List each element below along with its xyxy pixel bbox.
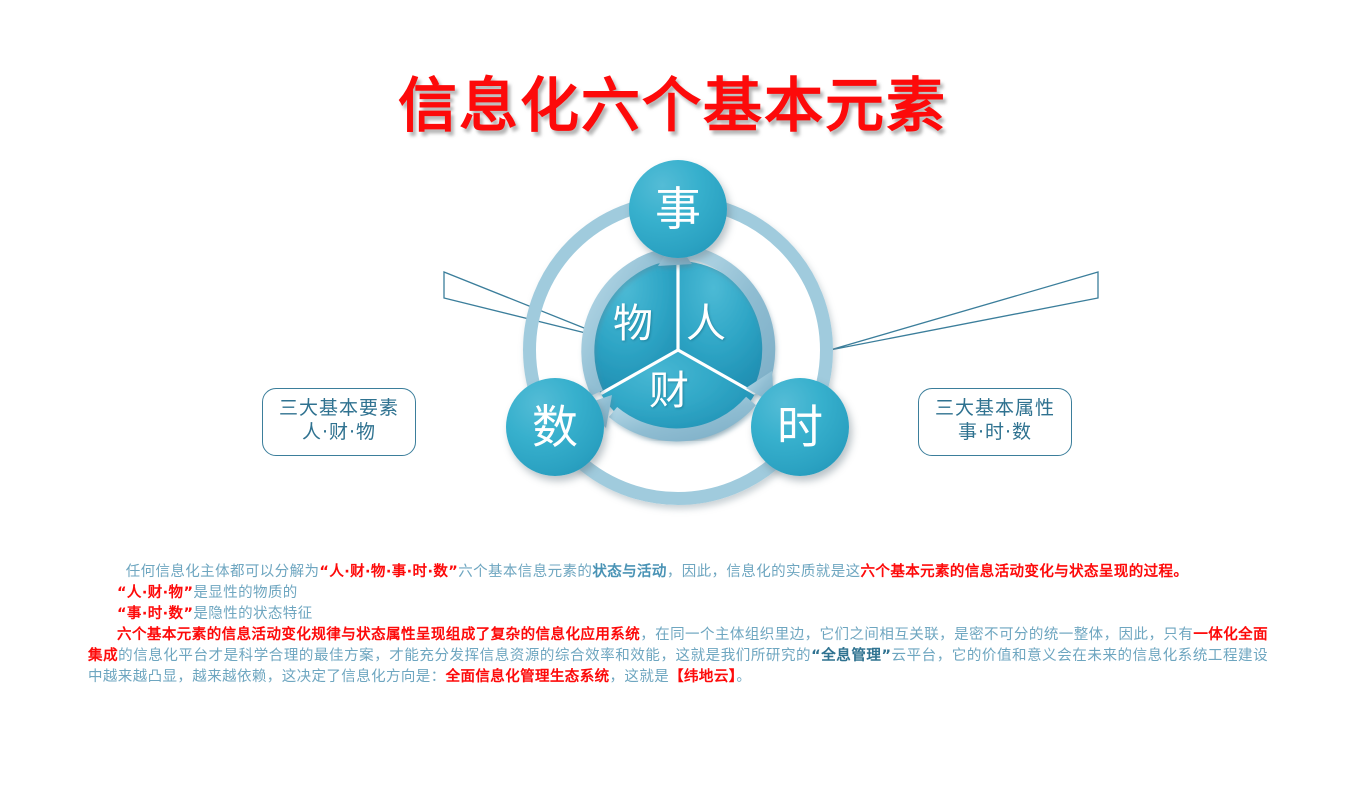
paragraph-2: “人·财·物”是显性的物质的: [88, 583, 1268, 604]
diagram-stage: 物 人 财: [0, 150, 1345, 550]
node-label-shi2: 时: [777, 404, 823, 450]
paragraph-4: 六个基本元素的信息活动变化规律与状态属性呈现组成了复杂的信息化应用系统，在同一个…: [88, 625, 1268, 688]
p1-e: ，因此，信息化的实质就是这: [667, 564, 861, 580]
p3-a: “事·时·数”: [117, 606, 193, 622]
callout-left-line1: 三大基本要素: [279, 397, 399, 421]
callout-left: 三大基本要素 人·财·物: [262, 388, 416, 456]
p1-g: 。: [1173, 564, 1188, 580]
six-elements-diagram: 物 人 财: [488, 160, 878, 530]
node-label-shu: 数: [532, 404, 578, 450]
callout-right-line1: 三大基本属性: [935, 397, 1055, 421]
callout-left-line2: 人·财·物: [279, 421, 399, 445]
node-label-shi: 事: [655, 186, 701, 232]
p4-g: 全面信息化管理生态系统: [446, 669, 610, 685]
paragraph-3: “事·时·数”是隐性的状态特征: [88, 604, 1268, 625]
p4-a: 六个基本元素的信息活动变化规律与状态属性呈现组成了复杂的信息化应用系统: [117, 627, 640, 643]
node-shi2[interactable]: 时: [751, 378, 849, 476]
page-title: 信息化六个基本元素: [0, 58, 1345, 143]
p4-i: 【纬地云】: [669, 669, 736, 685]
p4-b: ，在同一个主体组织里边，它们之间相互关联，是密不可分的统一整体，因此，只有: [640, 627, 1193, 643]
paragraph-1: 任何信息化主体都可以分解为“人·财·物·事·时·数”六个基本信息元素的状态与活动…: [88, 562, 1268, 583]
p4-e: “全息管理”: [811, 648, 891, 664]
p1-b: “人·财·物·事·时·数”: [319, 564, 458, 580]
p4-d: 的信息化平台才是科学合理的最佳方案，才能充分发挥信息资源的综合效率和效能，这就是…: [118, 648, 811, 664]
p4-h: ，这就是: [610, 669, 670, 685]
p2-b: 是显性的物质的: [193, 585, 297, 601]
callout-right-line2: 事·时·数: [935, 421, 1055, 445]
p2-a: “人·财·物”: [117, 585, 193, 601]
node-shi[interactable]: 事: [629, 160, 727, 258]
p1-f: 六个基本元素的信息活动变化与状态呈现的过程: [861, 564, 1174, 580]
p1-d: 状态与活动: [592, 564, 667, 580]
p1-a: 任何信息化主体都可以分解为: [126, 564, 320, 580]
p1-c: 六个基本信息元素的: [458, 564, 592, 580]
p4-j: 。: [736, 669, 751, 685]
callout-right: 三大基本属性 事·时·数: [918, 388, 1072, 456]
node-shu[interactable]: 数: [506, 378, 604, 476]
body-paragraph: 任何信息化主体都可以分解为“人·财·物·事·时·数”六个基本信息元素的状态与活动…: [88, 562, 1268, 688]
p3-b: 是隐性的状态特征: [193, 606, 312, 622]
